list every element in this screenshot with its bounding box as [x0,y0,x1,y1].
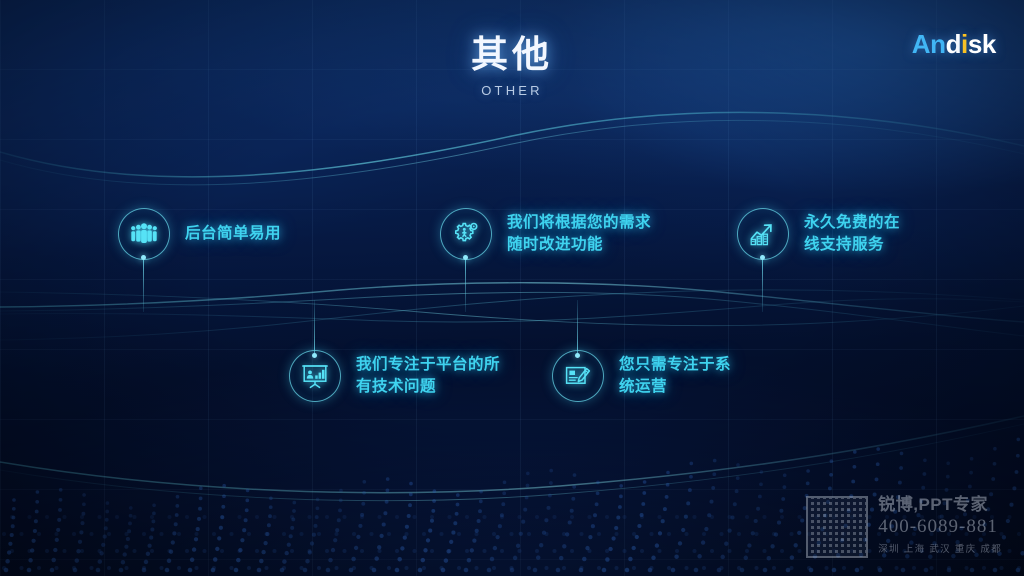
connector-stem-2 [465,258,466,312]
feature-node-backend-easy[interactable]: 后台简单易用 [118,208,281,260]
connector-dot-1 [141,255,146,260]
connector-stem-5 [577,300,578,356]
feature-label: 我们专注于平台的所 有技术问题 [356,354,500,398]
feature-node-free-online-support[interactable]: 永久免费的在 线支持服务 [737,208,900,260]
watermark-text: 锐博,PPT专家 400-6089-881 深圳 上海 武汉 重庆 成都 [878,496,1002,555]
connector-dot-5 [575,353,580,358]
watermark: 锐博,PPT专家 400-6089-881 深圳 上海 武汉 重庆 成都 [806,496,1002,558]
connector-dot-4 [312,353,317,358]
feature-label: 您只需专注于系 统运营 [619,354,731,398]
connector-dot-3 [760,255,765,260]
gear-person-icon [452,220,480,248]
feature-icon-circle [118,208,170,260]
page-subtitle: OTHER [0,83,1024,98]
connector-stem-1 [143,258,144,312]
feature-icon-circle [737,208,789,260]
slide-header: 其他 OTHER [0,32,1024,98]
page-title: 其他 [0,32,1024,78]
watermark-phone: 400-6089-881 [878,516,1002,538]
feature-label: 后台简单易用 [185,223,281,245]
feature-label: 永久免费的在 线支持服务 [804,212,900,256]
logo-part-sk: sk [968,29,996,59]
logo-part-d: d [946,29,961,59]
presentation-slide: 其他 OTHER Andisk 后台简单易用 [0,0,1024,576]
qr-code-icon [806,496,868,558]
feature-label: 我们将根据您的需求 随时改进功能 [507,212,651,256]
feature-node-improve-on-demand[interactable]: 我们将根据您的需求 随时改进功能 [440,208,651,260]
logo-part-i: i [961,29,968,59]
connector-stem-3 [762,258,763,312]
growth-chart-icon [749,221,777,247]
connector-stem-4 [314,300,315,356]
brand-logo: Andisk [912,29,996,60]
feature-node-platform-tech-issues[interactable]: 我们专注于平台的所 有技术问题 [289,350,500,402]
feature-node-system-operation[interactable]: 您只需专注于系 统运营 [552,350,731,402]
people-group-icon [130,223,158,245]
watermark-brand: 锐博,PPT专家 [878,496,1002,515]
logo-part-an: An [912,29,946,59]
document-edit-icon [564,363,592,389]
connector-dot-2 [463,255,468,260]
feature-icon-circle [440,208,492,260]
presentation-chart-icon [301,363,329,389]
watermark-cities: 深圳 上海 武汉 重庆 成都 [878,541,1002,555]
